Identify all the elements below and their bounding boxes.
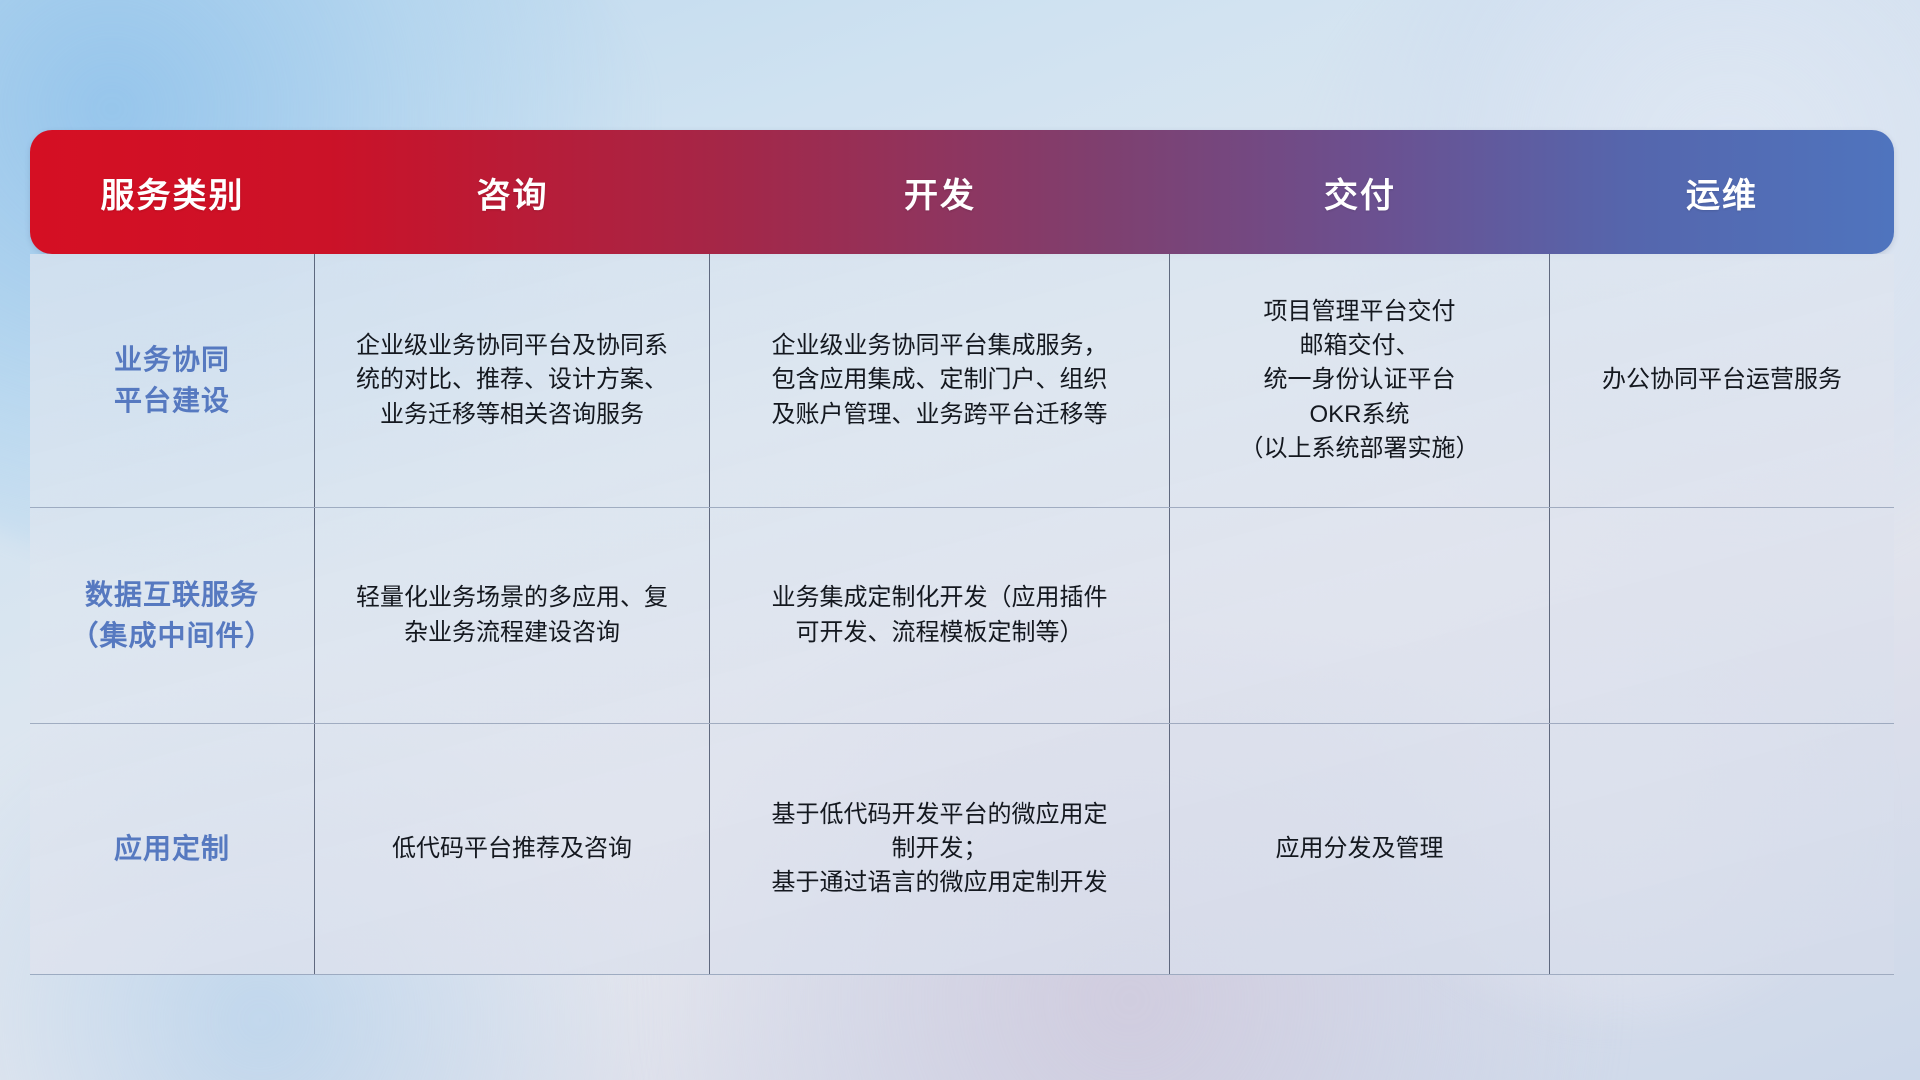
table-header-cell-consulting: 咨询 [315, 130, 710, 254]
cell-development: 企业级业务协同平台集成服务， 包含应用集成、定制门户、组织 及账户管理、业务跨平… [710, 254, 1170, 507]
service-matrix-table: 服务类别 咨询 开发 交付 运维 业务协同 平台建设 企业级业务协同平台及协同系… [30, 130, 1894, 975]
table-header-cell-operations: 运维 [1550, 130, 1894, 254]
table-row: 应用定制 低代码平台推荐及咨询 基于低代码开发平台的微应用定 制开发； 基于通过… [30, 724, 1894, 974]
table-row: 数据互联服务 （集成中间件） 轻量化业务场景的多应用、复 杂业务流程建设咨询 业… [30, 508, 1894, 724]
cell-operations [1550, 724, 1894, 974]
cell-development: 基于低代码开发平台的微应用定 制开发； 基于通过语言的微应用定制开发 [710, 724, 1170, 974]
table-header-cell-delivery: 交付 [1170, 130, 1550, 254]
row-category-label: 数据互联服务 （集成中间件） [30, 508, 315, 723]
cell-delivery [1170, 508, 1550, 723]
table-header-cell-category: 服务类别 [30, 130, 315, 254]
cell-development: 业务集成定制化开发（应用插件 可开发、流程模板定制等） [710, 508, 1170, 723]
cell-operations [1550, 508, 1894, 723]
table-header-cell-development: 开发 [710, 130, 1170, 254]
row-category-label: 业务协同 平台建设 [30, 254, 315, 507]
cell-consulting: 轻量化业务场景的多应用、复 杂业务流程建设咨询 [315, 508, 710, 723]
table-body: 业务协同 平台建设 企业级业务协同平台及协同系 统的对比、推荐、设计方案、 业务… [30, 254, 1894, 975]
cell-delivery: 应用分发及管理 [1170, 724, 1550, 974]
table-row: 业务协同 平台建设 企业级业务协同平台及协同系 统的对比、推荐、设计方案、 业务… [30, 254, 1894, 508]
table-header-row: 服务类别 咨询 开发 交付 运维 [30, 130, 1894, 254]
cell-consulting: 低代码平台推荐及咨询 [315, 724, 710, 974]
cell-operations: 办公协同平台运营服务 [1550, 254, 1894, 507]
cell-consulting: 企业级业务协同平台及协同系 统的对比、推荐、设计方案、 业务迁移等相关咨询服务 [315, 254, 710, 507]
cell-delivery: 项目管理平台交付 邮箱交付、 统一身份认证平台 OKR系统 （以上系统部署实施） [1170, 254, 1550, 507]
row-category-label: 应用定制 [30, 724, 315, 974]
